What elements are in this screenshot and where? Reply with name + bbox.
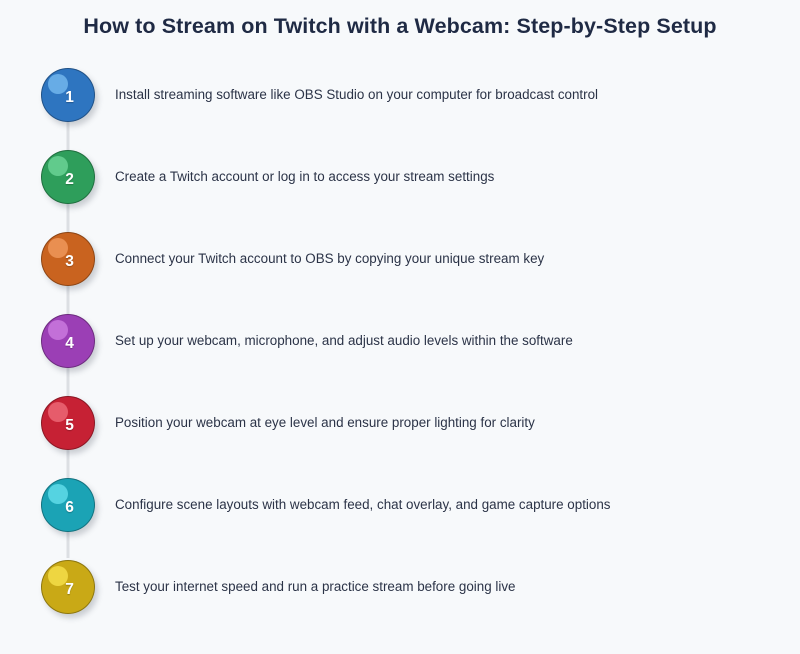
step-description: Configure scene layouts with webcam feed… — [115, 472, 611, 538]
infographic-container: How to Stream on Twitch with a Webcam: S… — [0, 0, 800, 654]
step-description: Create a Twitch account or log in to acc… — [115, 144, 494, 210]
step-number-label: 3 — [41, 232, 95, 286]
step-description: Set up your webcam, microphone, and adju… — [115, 308, 573, 374]
step-description: Position your webcam at eye level and en… — [115, 390, 535, 456]
step-description: Install streaming software like OBS Stud… — [115, 62, 598, 128]
step-row: 3Connect your Twitch account to OBS by c… — [0, 226, 800, 308]
step-number-badge: 3 — [41, 232, 95, 286]
step-number-label: 4 — [41, 314, 95, 368]
step-number-label: 1 — [41, 68, 95, 122]
step-row: 7Test your internet speed and run a prac… — [0, 554, 800, 636]
step-number-label: 7 — [41, 560, 95, 614]
step-description: Test your internet speed and run a pract… — [115, 554, 515, 620]
step-row: 6Configure scene layouts with webcam fee… — [0, 472, 800, 554]
step-number-badge: 6 — [41, 478, 95, 532]
step-description: Connect your Twitch account to OBS by co… — [115, 226, 544, 292]
page-title: How to Stream on Twitch with a Webcam: S… — [0, 14, 800, 39]
step-number-label: 6 — [41, 478, 95, 532]
steps-list: 1Install streaming software like OBS Stu… — [0, 62, 800, 636]
step-row: 2Create a Twitch account or log in to ac… — [0, 144, 800, 226]
step-row: 1Install streaming software like OBS Stu… — [0, 62, 800, 144]
step-number-label: 5 — [41, 396, 95, 450]
step-number-badge: 5 — [41, 396, 95, 450]
step-number-badge: 7 — [41, 560, 95, 614]
step-number-badge: 2 — [41, 150, 95, 204]
step-row: 4Set up your webcam, microphone, and adj… — [0, 308, 800, 390]
step-number-badge: 4 — [41, 314, 95, 368]
step-number-badge: 1 — [41, 68, 95, 122]
step-number-label: 2 — [41, 150, 95, 204]
step-row: 5Position your webcam at eye level and e… — [0, 390, 800, 472]
